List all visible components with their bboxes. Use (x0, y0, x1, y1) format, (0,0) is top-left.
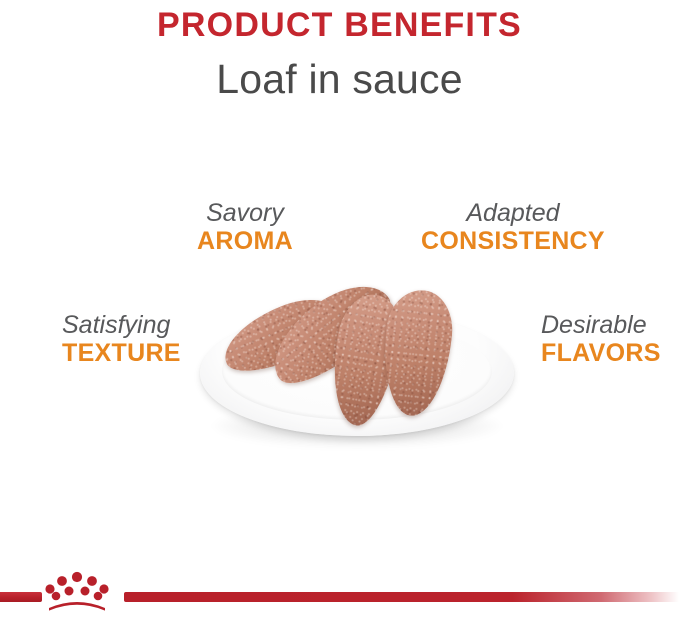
benefit-aroma: Savory AROMA (197, 200, 293, 255)
product-benefits-page: PRODUCT BENEFITS Loaf in sauce Savory AR… (0, 0, 679, 620)
benefit-consistency-qualifier: Adapted (421, 200, 605, 226)
benefit-texture-qualifier: Satisfying (62, 312, 181, 338)
footer-rule-left (0, 592, 42, 602)
benefit-flavors: Desirable FLAVORS (541, 312, 661, 367)
product-food-image: Four loaf-in-sauce slices served on a wh… (178, 272, 530, 472)
benefit-aroma-attribute: AROMA (197, 228, 293, 254)
header: PRODUCT BENEFITS Loaf in sauce (0, 0, 679, 100)
benefit-consistency: Adapted CONSISTENCY (421, 200, 605, 255)
benefit-flavors-qualifier: Desirable (541, 312, 661, 338)
royal-canin-crown-icon (44, 567, 110, 611)
benefit-texture: Satisfying TEXTURE (62, 312, 181, 367)
product-food-image-caption: Four loaf-in-sauce slices served on a wh… (178, 272, 179, 273)
benefit-texture-attribute: TEXTURE (62, 340, 181, 366)
benefit-flavors-attribute: FLAVORS (541, 340, 661, 366)
benefit-consistency-attribute: CONSISTENCY (421, 228, 605, 254)
page-subtitle: Loaf in sauce (0, 42, 679, 100)
page-title: PRODUCT BENEFITS (0, 0, 679, 42)
benefit-aroma-qualifier: Savory (197, 200, 293, 226)
footer-rule-right (124, 592, 679, 602)
